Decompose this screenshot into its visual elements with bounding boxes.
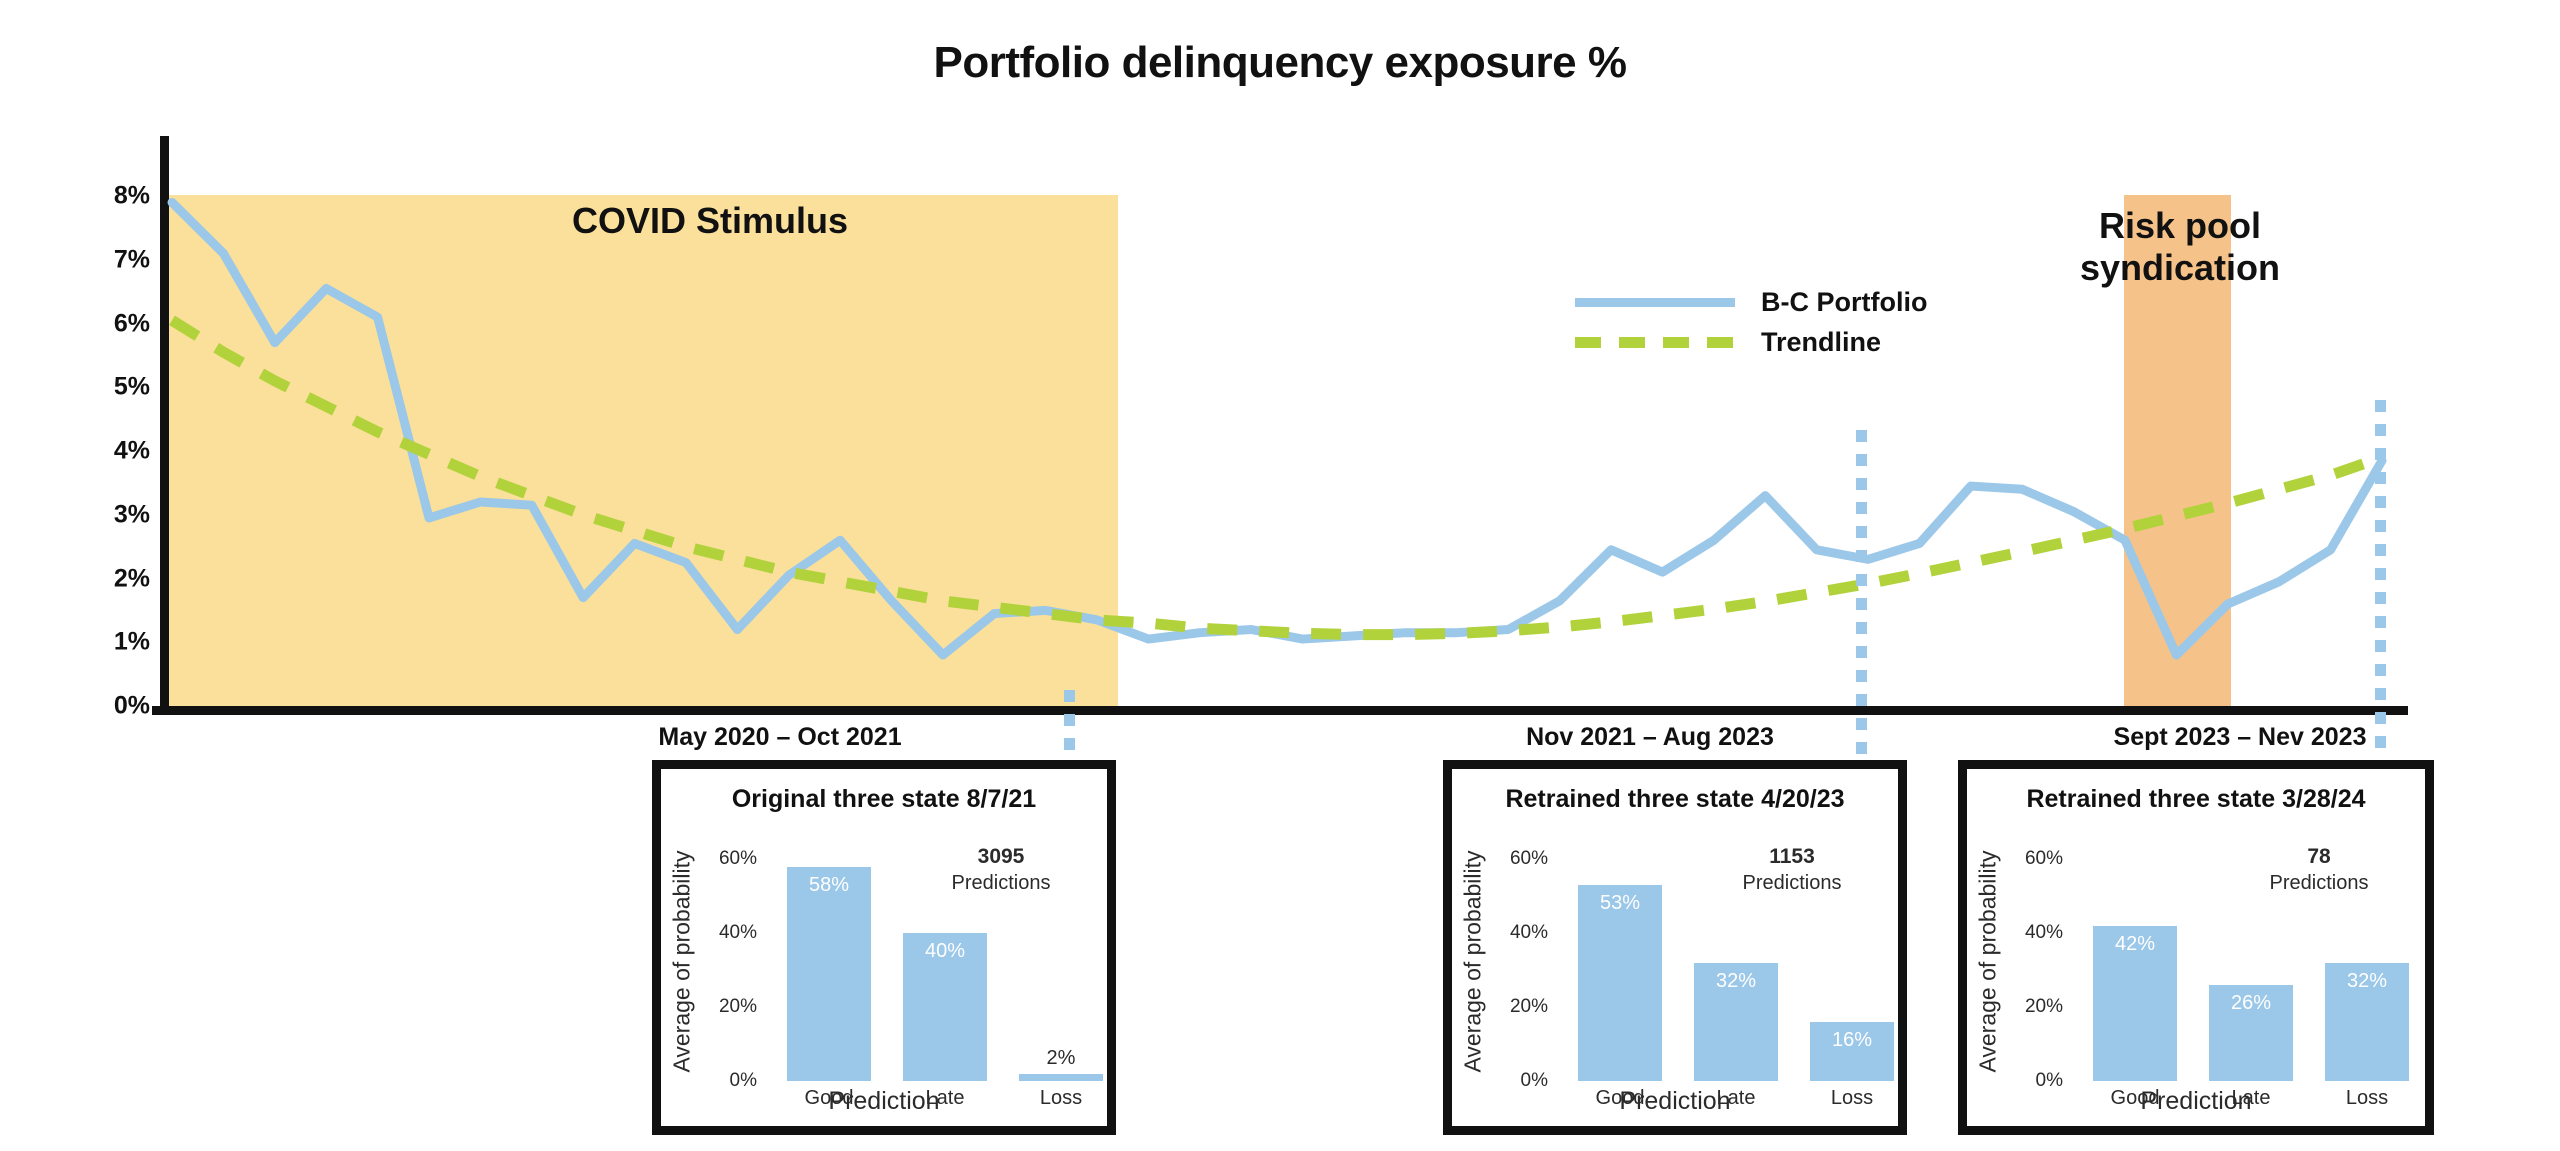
y-tick-2: 2% [30,564,150,593]
panel-y-tick: 20% [1997,996,2063,1018]
y-tick-8: 8% [30,182,150,211]
panel-y-tick: 40% [1997,922,2063,944]
panel-x-axis-label: Prediction [1452,1087,1898,1116]
bar-value-label: 2% [1019,1047,1103,1070]
bar-value-label: 26% [2209,992,2293,1015]
bar-value-label: 16% [1810,1029,1894,1052]
dashed-line-icon [1575,337,1735,348]
x-axis-line [152,706,2408,715]
legend: B-C Portfolio Trendline [1575,282,1935,362]
bar-slot: 32%Loss [2325,841,2409,1081]
risk-pool-syndication-label: Risk pool syndication [1985,205,2375,290]
y-tick-3: 3% [30,500,150,529]
panel-y-tick: 60% [1482,848,1548,870]
bar-value-label: 32% [2325,970,2409,993]
bar-slot: 53%Good [1578,841,1662,1081]
prediction-panel-2: Retrained three state 4/20/231153Predict… [1443,760,1907,1135]
covid-stimulus-label: COVID Stimulus [300,200,1120,242]
panel-title: Retrained three state 4/20/23 [1452,785,1898,814]
y-axis-ticks: 8%7%6%5%4%3%2%1%0% [12,0,152,1151]
solid-line-icon [1575,298,1735,307]
panel-y-tick: 60% [691,848,757,870]
panel-bars: 42%Good26%Late32%Loss [2077,841,2407,1081]
connector-line-4 [2375,400,2386,820]
bar-slot: 2%Loss [1019,841,1103,1081]
bar-rect [1019,1074,1103,1081]
y-tick-7: 7% [30,245,150,274]
panel-y-tick: 20% [691,996,757,1018]
panel-x-axis-label: Prediction [661,1087,1107,1116]
bar-slot: 42%Good [2093,841,2177,1081]
page-title: Portfolio delinquency exposure % [0,38,2560,88]
period-label-3: Sept 2023 – Nev 2023 [1890,723,2560,752]
panel-y-axis-label: Average of probability [667,841,697,1081]
panel-title: Retrained three state 3/28/24 [1967,785,2425,814]
panel-title: Original three state 8/7/21 [661,785,1107,814]
bar-slot: 32%Late [1694,841,1778,1081]
y-tick-4: 4% [30,437,150,466]
legend-label-trendline: Trendline [1761,327,1881,358]
panel-y-tick: 60% [1997,848,2063,870]
bar-value-label: 40% [903,940,987,963]
y-axis-line [160,136,169,714]
bar-value-label: 42% [2093,933,2177,956]
legend-item-trendline: Trendline [1575,322,1935,362]
covid-stimulus-band [168,195,1118,706]
prediction-panel-1: Original three state 8/7/213095Predictio… [652,760,1116,1135]
bar-value-label: 32% [1694,970,1778,993]
panel-bars: 53%Good32%Late16%Loss [1562,841,1880,1081]
prediction-panel-3: Retrained three state 3/28/2478Predictio… [1958,760,2434,1135]
risk-label-line1: Risk pool [1985,205,2375,247]
bar-rect [787,867,871,1081]
panel-y-tick: 40% [691,922,757,944]
bar-slot: 16%Loss [1810,841,1894,1081]
panel-bars: 58%Good40%Late2%Loss [771,841,1089,1081]
panel-x-axis-label: Prediction [1967,1087,2425,1116]
bar-value-label: 58% [787,874,871,897]
legend-label-portfolio: B-C Portfolio [1761,287,1927,318]
legend-item-portfolio: B-C Portfolio [1575,282,1935,322]
y-tick-0: 0% [30,692,150,721]
risk-label-line2: syndication [1985,247,2375,289]
panel-y-tick: 40% [1482,922,1548,944]
y-tick-1: 1% [30,628,150,657]
panel-y-tick: 20% [1482,996,1548,1018]
y-tick-5: 5% [30,373,150,402]
bar-value-label: 53% [1578,892,1662,915]
bar-slot: 40%Late [903,841,987,1081]
y-tick-6: 6% [30,309,150,338]
panel-y-axis-label: Average of probability [1973,841,2003,1081]
bar-slot: 26%Late [2209,841,2293,1081]
panel-y-axis-label: Average of probability [1458,841,1488,1081]
chart-canvas: Portfolio delinquency exposure % 8%7%6%5… [0,0,2560,1151]
bar-slot: 58%Good [787,841,871,1081]
